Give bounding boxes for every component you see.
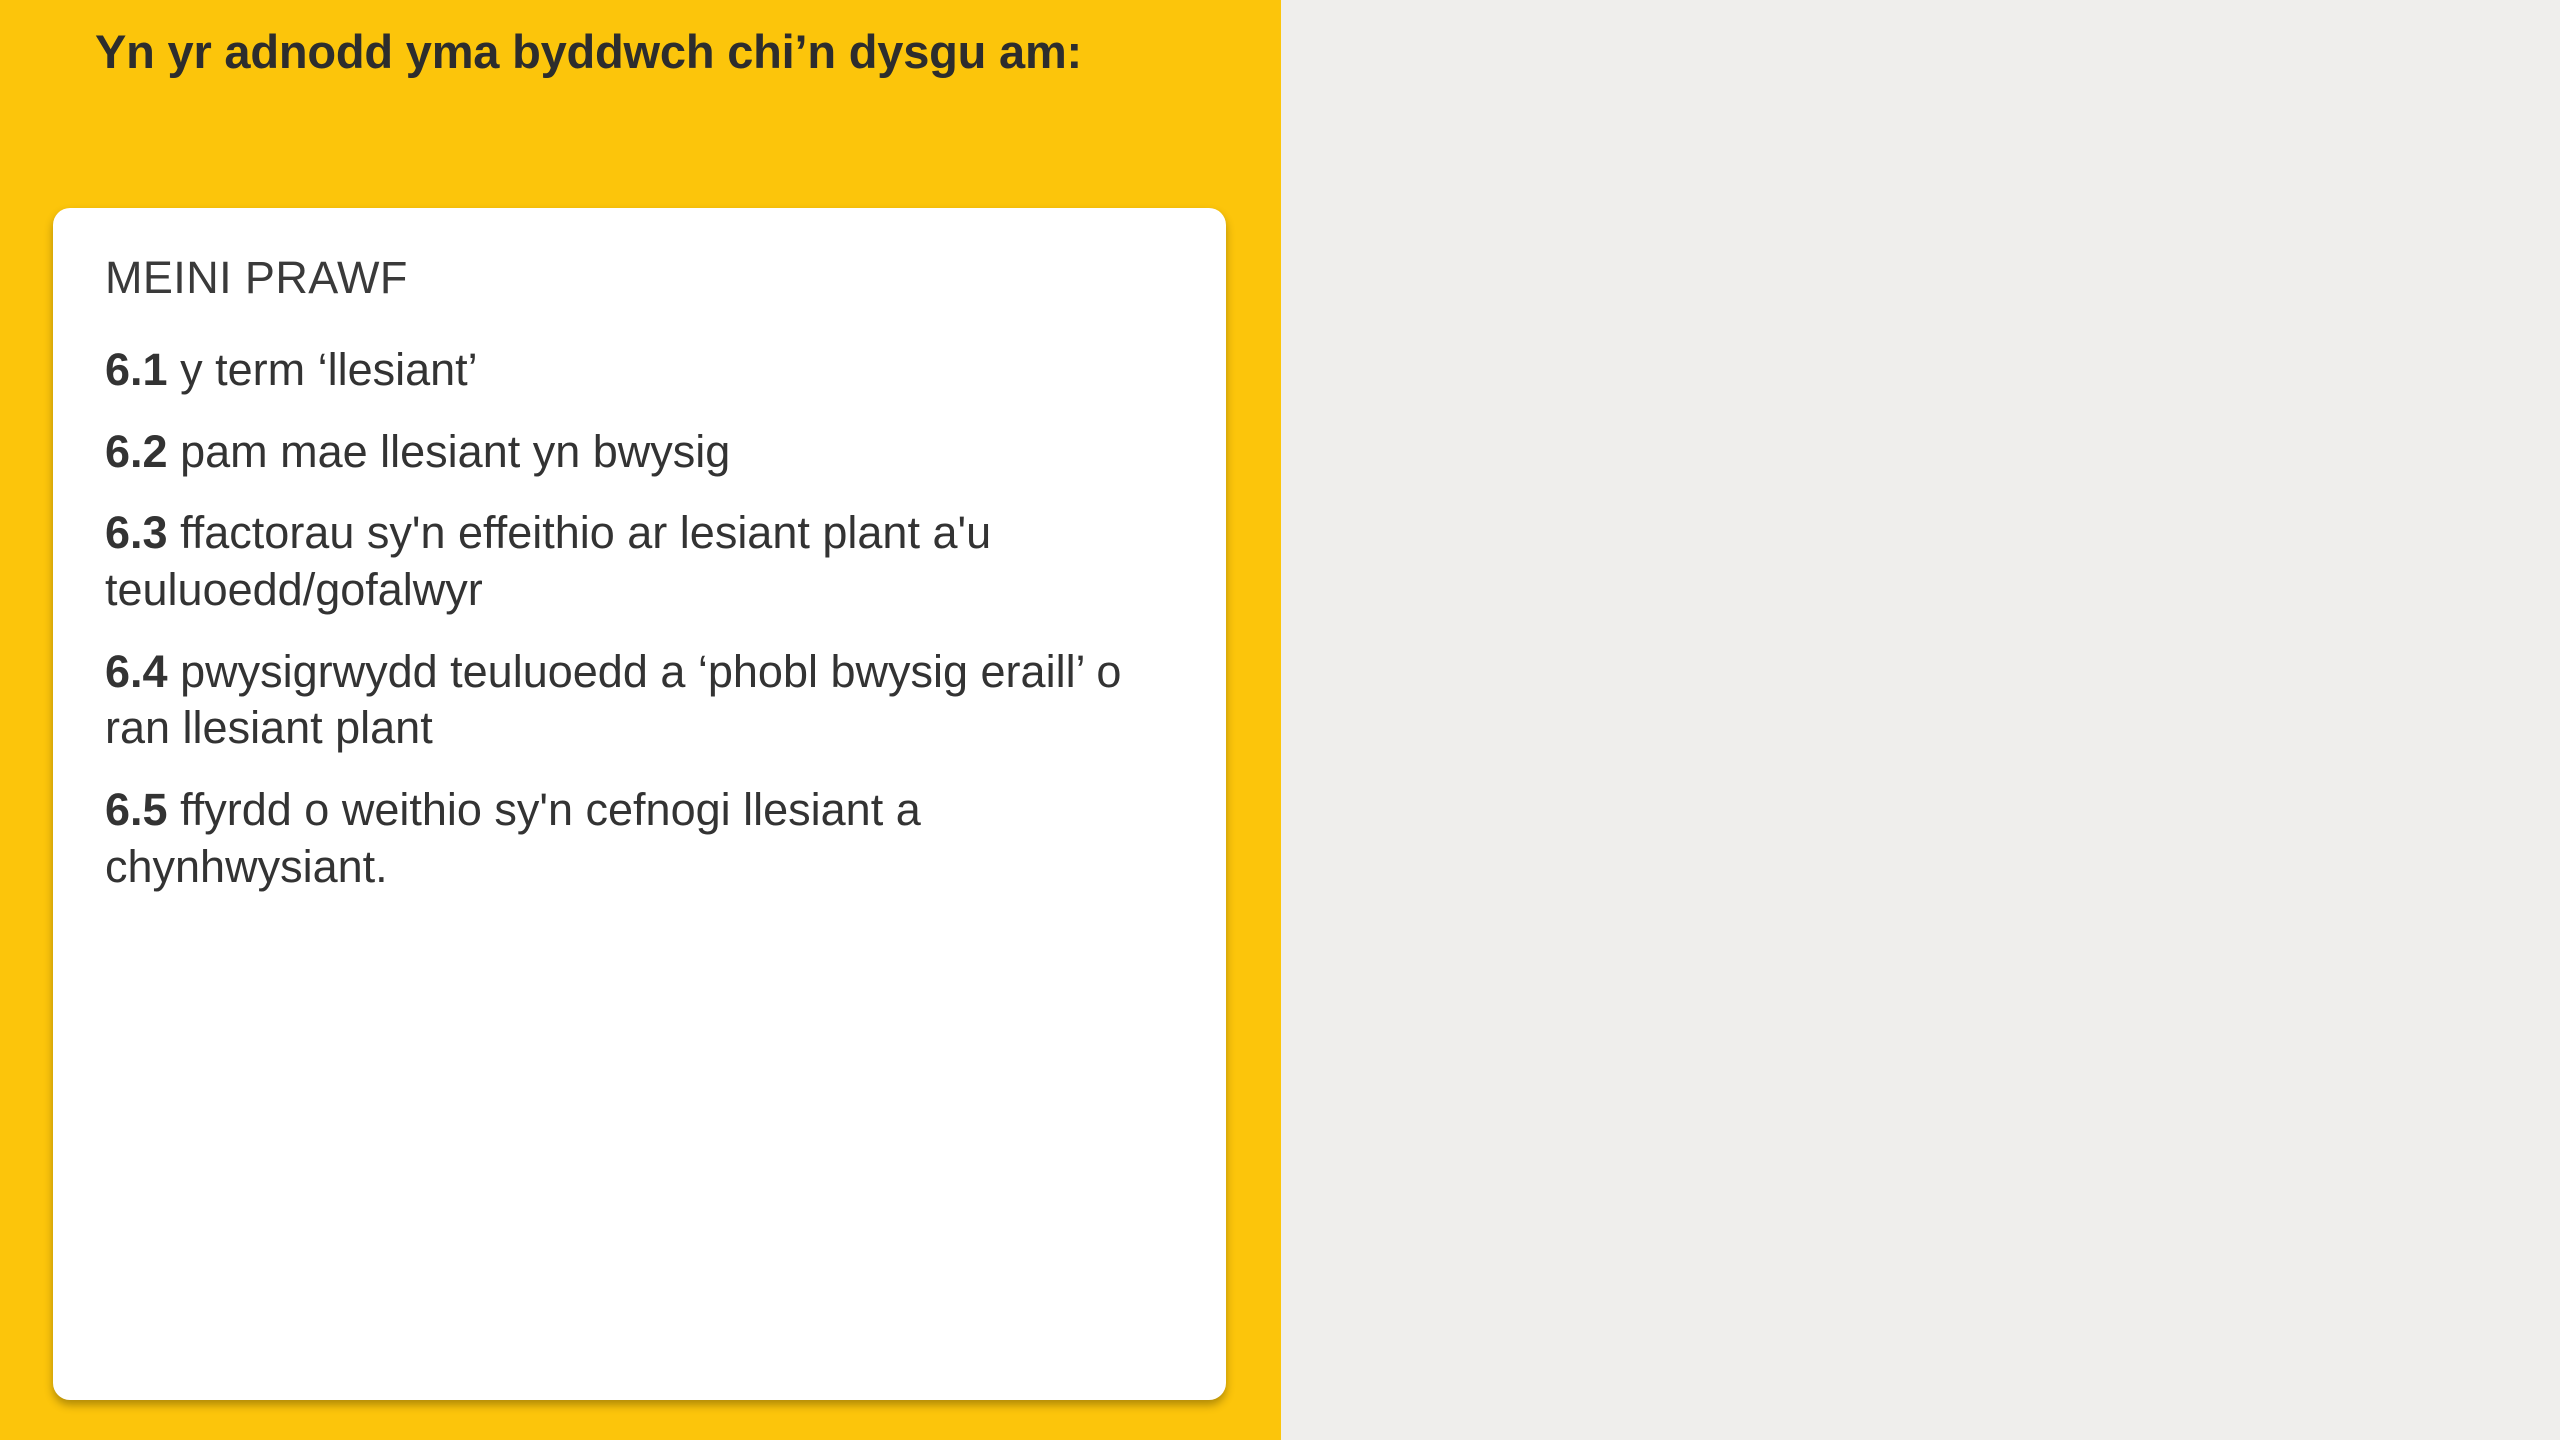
outcome-code: 6.2 <box>105 426 168 477</box>
welsh-card-title: MEINI PRAWF <box>105 252 1174 304</box>
outcome-text: pwysigrwydd teuluoedd a ‘phobl bwysig er… <box>105 646 1121 754</box>
list-item: 6.1 y term ‘llesiant’ <box>105 342 1174 399</box>
outcome-code: 6.4 <box>105 646 168 697</box>
list-item: 6.2 pam mae llesiant yn bwysig <box>105 424 1174 481</box>
list-item: 6.5 ffyrdd o weithio sy'n cefnogi llesia… <box>105 782 1174 895</box>
outcome-text: ffactorau sy'n effeithio ar lesiant plan… <box>105 507 991 615</box>
outcome-code: 6.3 <box>105 507 168 558</box>
outcome-code: 6.5 <box>105 784 168 835</box>
welsh-criteria-list: 6.1 y term ‘llesiant’ 6.2 pam mae llesia… <box>105 342 1174 896</box>
outcome-text: pam mae llesiant yn bwysig <box>168 426 731 477</box>
list-item: 6.3 ffactorau sy'n effeithio ar lesiant … <box>105 505 1174 618</box>
welsh-panel-heading: Yn yr adnodd yma byddwch chi’n dysgu am: <box>95 22 1215 82</box>
welsh-panel: Yn yr adnodd yma byddwch chi’n dysgu am:… <box>0 0 1281 1440</box>
welsh-criteria-card: MEINI PRAWF 6.1 y term ‘llesiant’ 6.2 pa… <box>53 208 1226 1400</box>
list-item: 6.4 pwysigrwydd teuluoedd a ‘phobl bwysi… <box>105 644 1174 757</box>
outcome-code: 6.1 <box>105 344 168 395</box>
outcome-text: ffyrdd o weithio sy'n cefnogi llesiant a… <box>105 784 921 892</box>
english-panel: In this resource you will learn about: L… <box>1281 0 2560 1440</box>
outcome-text: y term ‘llesiant’ <box>168 344 478 395</box>
resource-learning-outcomes-slide: Yn yr adnodd yma byddwch chi’n dysgu am:… <box>0 0 2560 1440</box>
